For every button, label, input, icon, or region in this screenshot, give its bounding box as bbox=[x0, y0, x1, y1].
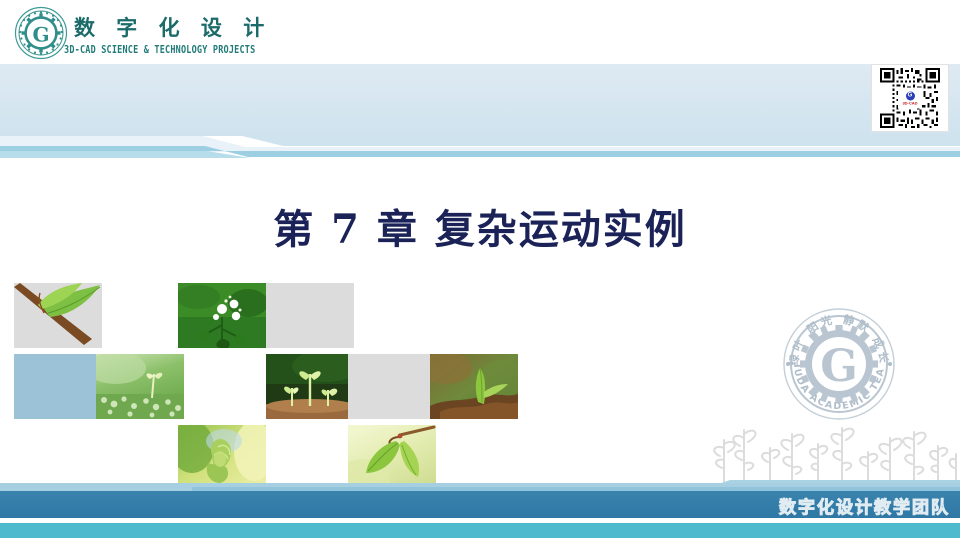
page-title: 第 7 章 复杂运动实例 bbox=[0, 197, 960, 255]
tile-sprout-moss bbox=[96, 354, 184, 419]
gear-g-logo-icon: G bbox=[14, 6, 68, 60]
svg-text:G: G bbox=[32, 23, 49, 47]
svg-text:G: G bbox=[820, 341, 858, 392]
tile-three-seedlings bbox=[266, 354, 354, 419]
tile-placeholder-1 bbox=[266, 283, 354, 348]
qr-center-letter: G bbox=[906, 91, 915, 100]
tile-solid-blue bbox=[14, 354, 102, 419]
brand-logo-group: G 数 字 化 设 计 3D-CAD SCIENCE & TECHNOLOGY … bbox=[6, 4, 336, 62]
academic-seal-icon: 绿叶 阳光 静默 成长 LIUDA ACADEMIC TEAM bbox=[780, 305, 898, 423]
plant-photo-mosaic bbox=[0, 283, 530, 483]
tile-white-flowers bbox=[178, 283, 266, 348]
header-band bbox=[0, 64, 960, 136]
tile-leaf-branch bbox=[14, 283, 102, 348]
brand-name-cn: 数 字 化 设 计 bbox=[74, 12, 271, 42]
qr-center-logo: G 3D-CAD bbox=[898, 88, 922, 109]
footer-cyan-bar bbox=[0, 523, 960, 538]
qr-code[interactable]: G 3D-CAD bbox=[871, 64, 949, 132]
header-step-decoration bbox=[0, 136, 960, 158]
tile-placeholder-2 bbox=[348, 354, 436, 419]
brand-name-en: 3D-CAD SCIENCE & TECHNOLOGY PROJECTS bbox=[64, 44, 255, 57]
tile-twin-leaves bbox=[348, 425, 436, 490]
presentation-slide: G 数 字 化 设 计 3D-CAD SCIENCE & TECHNOLOGY … bbox=[0, 0, 960, 540]
qr-center-label-top: 3D-CAD bbox=[902, 101, 917, 105]
footer-team-text: 数字化设计教学团队 bbox=[779, 492, 950, 518]
tile-soil-shoot bbox=[430, 354, 518, 419]
tile-bud-closeup bbox=[178, 425, 266, 490]
angled-step-icon bbox=[0, 136, 960, 158]
